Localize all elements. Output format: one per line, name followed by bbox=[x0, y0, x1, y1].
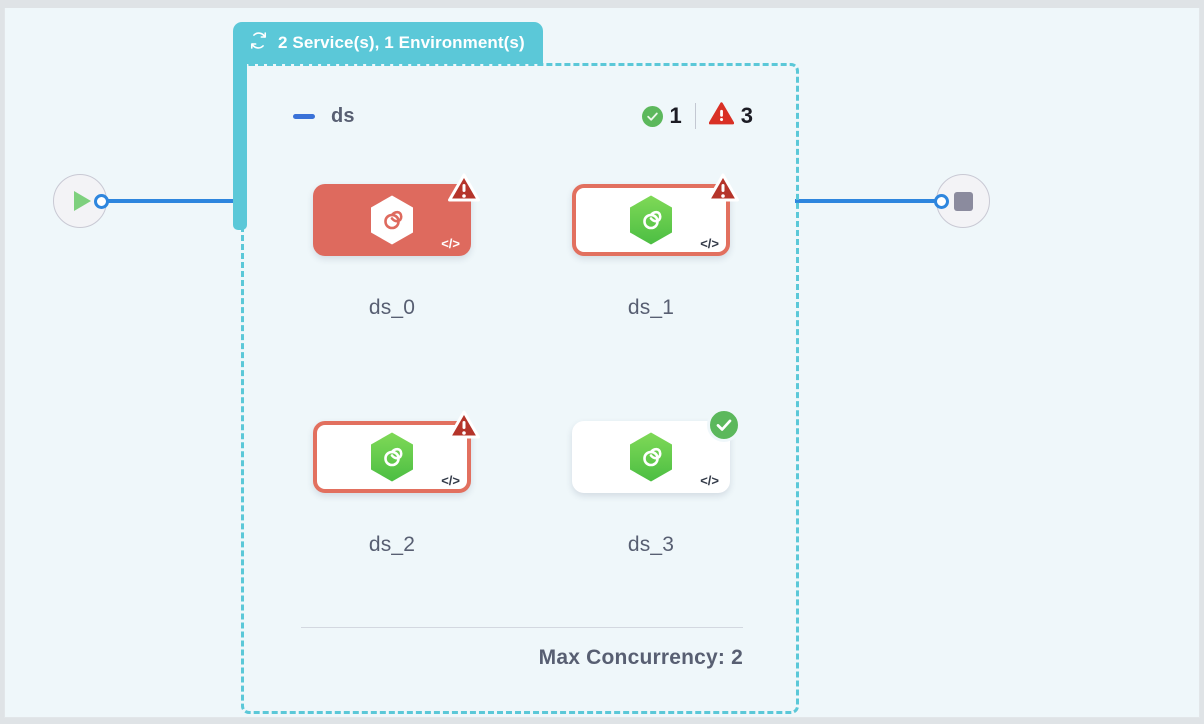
collapse-minus-icon[interactable] bbox=[293, 114, 315, 119]
code-icon: </> bbox=[700, 237, 719, 250]
stop-icon bbox=[954, 192, 973, 211]
service-hex-icon bbox=[368, 431, 416, 483]
group-status-counters: 1 3 bbox=[642, 102, 754, 130]
warning-triangle-icon bbox=[447, 172, 481, 203]
warning-triangle-icon bbox=[709, 102, 734, 130]
service-node-ds_1[interactable]: </> bbox=[572, 184, 730, 256]
group-tab-label: 2 Service(s), 1 Environment(s) bbox=[278, 33, 525, 53]
group-title: ds bbox=[331, 105, 355, 128]
warning-triangle-icon bbox=[706, 172, 740, 203]
service-hex-icon bbox=[627, 194, 675, 246]
edge-start-to-group bbox=[105, 199, 245, 203]
code-icon: </> bbox=[441, 474, 460, 487]
service-hex-icon bbox=[368, 194, 416, 246]
warning-triangle-icon bbox=[447, 409, 481, 440]
refresh-loop-icon bbox=[249, 31, 268, 55]
service-node-ds_2[interactable]: </> bbox=[313, 421, 471, 493]
success-counter: 1 bbox=[642, 103, 682, 129]
success-count: 1 bbox=[670, 103, 682, 129]
warning-count: 3 bbox=[741, 103, 753, 129]
warning-counter: 3 bbox=[709, 102, 753, 130]
check-circle-icon bbox=[707, 408, 741, 442]
service-node-ds_3[interactable]: </> bbox=[572, 421, 730, 493]
footer-divider bbox=[301, 627, 743, 628]
group-left-rail bbox=[233, 58, 247, 230]
code-icon: </> bbox=[441, 237, 460, 250]
service-node-label: ds_1 bbox=[551, 296, 751, 320]
service-node-label: ds_2 bbox=[292, 533, 492, 557]
group-header-tab[interactable]: 2 Service(s), 1 Environment(s) bbox=[233, 22, 543, 64]
service-node-label: ds_0 bbox=[292, 296, 492, 320]
service-node-ds_0[interactable]: </> bbox=[313, 184, 471, 256]
group-header-row: ds 1 bbox=[293, 102, 753, 130]
check-circle-icon bbox=[642, 106, 663, 127]
service-node-label: ds_3 bbox=[551, 533, 751, 557]
service-hex-icon bbox=[627, 431, 675, 483]
edge-group-to-end bbox=[795, 199, 940, 203]
counter-divider bbox=[695, 103, 696, 129]
group-card: ds 1 bbox=[253, 74, 787, 702]
start-node-handle[interactable] bbox=[94, 194, 109, 209]
end-node-handle[interactable] bbox=[934, 194, 949, 209]
window-top-strip bbox=[0, 0, 1204, 8]
max-concurrency-label: Max Concurrency: 2 bbox=[301, 646, 743, 670]
code-icon: </> bbox=[700, 474, 719, 487]
play-icon bbox=[74, 191, 91, 211]
workflow-canvas[interactable]: 2 Service(s), 1 Environment(s) ds 1 bbox=[4, 8, 1200, 718]
